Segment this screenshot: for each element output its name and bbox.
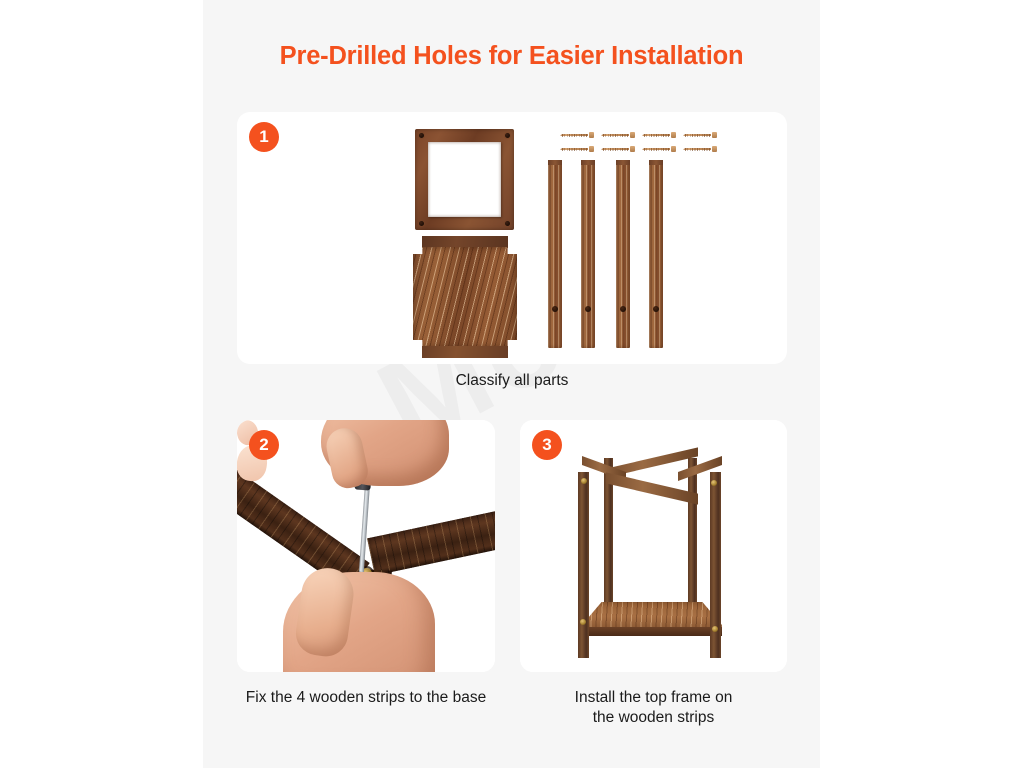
strip-end-cap <box>616 160 630 165</box>
step-1-badge: 1 <box>249 122 279 152</box>
board-bottom-edge <box>422 346 507 358</box>
screw-head <box>712 132 717 137</box>
board-surface <box>413 247 517 347</box>
strip-screw-hole <box>585 306 591 312</box>
part-wooden-strip <box>548 160 562 348</box>
frame-screw-hole <box>505 133 510 138</box>
page-root: MoGo Pre-Drilled Holes for Easier Instal… <box>0 0 1024 768</box>
frame-opening <box>428 142 501 217</box>
screw-head <box>630 132 635 137</box>
part-screw <box>560 147 594 151</box>
stand-screw <box>711 480 717 486</box>
step-2-photo <box>237 420 495 672</box>
strip-end-cap <box>581 160 595 165</box>
screw-thread <box>644 148 670 151</box>
screw-head <box>589 132 594 137</box>
screwdriver-shaft <box>359 482 370 572</box>
part-screw <box>683 133 717 137</box>
step-1-parts-illustration <box>237 112 787 364</box>
board-top-edge <box>422 236 507 248</box>
step-2-card: 2 <box>237 420 495 672</box>
screw-head <box>671 146 676 151</box>
screw-thread <box>603 148 629 151</box>
wood-beam-right <box>367 503 495 576</box>
step-2-caption: Fix the 4 wooden strips to the base <box>227 688 505 708</box>
screw-thread <box>685 134 711 137</box>
screw-thread <box>644 134 670 137</box>
part-screw <box>601 147 635 151</box>
page-title: Pre-Drilled Holes for Easier Installatio… <box>203 42 820 71</box>
step-3-caption-line-2: the wooden strips <box>520 708 787 728</box>
screw-thread <box>562 148 588 151</box>
part-base-board <box>413 247 517 347</box>
strip-screw-hole <box>620 306 626 312</box>
step-3-caption-line-1: Install the top frame on <box>520 688 787 708</box>
stand-leg-front-left <box>578 472 589 658</box>
stand-screw <box>581 478 587 484</box>
part-wooden-strip <box>616 160 630 348</box>
part-screw <box>642 133 676 137</box>
step-2-badge: 2 <box>249 430 279 460</box>
frame-screw-hole <box>505 221 510 226</box>
part-screw <box>601 133 635 137</box>
screw-thread <box>685 148 711 151</box>
frame-screw-hole <box>419 133 424 138</box>
screw-head <box>712 146 717 151</box>
screw-thread <box>603 134 629 137</box>
strip-end-cap <box>649 160 663 165</box>
part-wooden-strip <box>581 160 595 348</box>
stand-shelf-edge <box>582 627 722 636</box>
frame-screw-hole <box>419 221 424 226</box>
stand-screw <box>712 626 718 632</box>
step-1-card: 1 <box>237 112 787 364</box>
product-detail-panel: MoGo Pre-Drilled Holes for Easier Instal… <box>203 0 820 768</box>
part-wooden-strip <box>649 160 663 348</box>
screw-head <box>589 146 594 151</box>
part-screw <box>560 133 594 137</box>
part-top-frame <box>415 129 514 230</box>
step-1-caption: Classify all parts <box>237 371 787 391</box>
strip-screw-hole <box>653 306 659 312</box>
step-3-caption: Install the top frame on the wooden stri… <box>520 688 787 728</box>
step-3-photo <box>520 420 787 672</box>
screw-head <box>671 132 676 137</box>
step-3-badge: 3 <box>532 430 562 460</box>
wood-grain <box>367 503 495 576</box>
stand-leg-back-right <box>688 458 697 618</box>
part-screw <box>642 147 676 151</box>
screw-head <box>630 146 635 151</box>
stand-screw <box>580 619 586 625</box>
strip-screw-hole <box>552 306 558 312</box>
part-screw <box>683 147 717 151</box>
strip-end-cap <box>548 160 562 165</box>
step-3-card: 3 <box>520 420 787 672</box>
screw-thread <box>562 134 588 137</box>
